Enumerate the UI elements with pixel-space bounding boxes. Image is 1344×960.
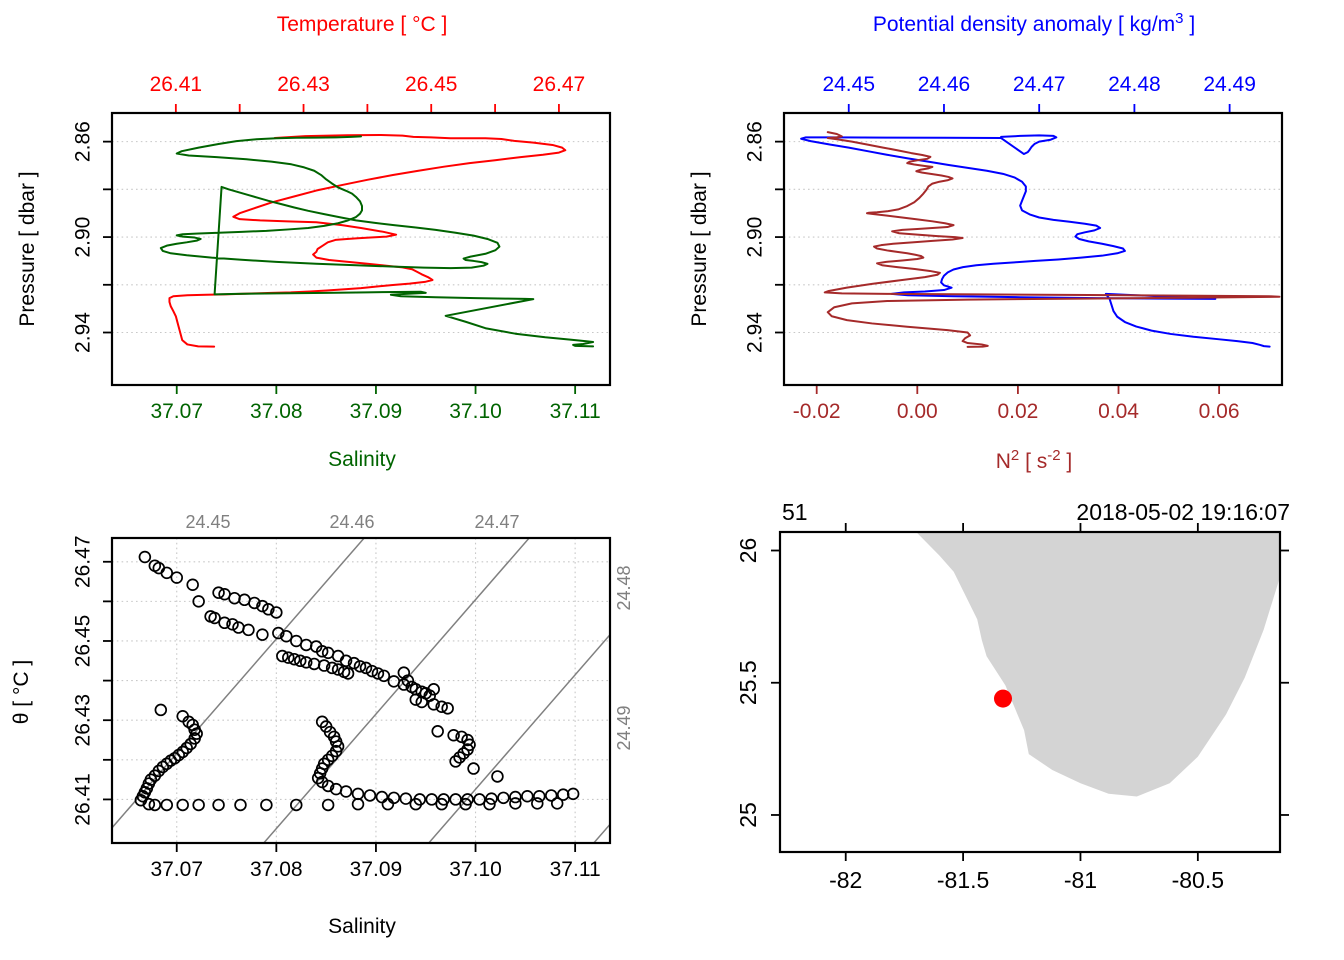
density-plot-box: [784, 113, 1282, 385]
tick-label: 0.04: [1098, 400, 1139, 423]
tick-label: 2.86: [744, 121, 767, 162]
map-left-ticks: 2525.526: [735, 538, 780, 828]
ts-point: [382, 799, 393, 810]
tick-label: 37.09: [350, 400, 403, 423]
ts-point: [400, 793, 411, 804]
ts-point: [333, 651, 344, 662]
tick-label: 0.02: [997, 400, 1038, 423]
ts-point: [353, 788, 364, 799]
ts-point: [468, 763, 479, 774]
ts-point: [193, 800, 204, 811]
ts-point: [161, 800, 172, 811]
density-svg: Potential density anomaly [ kg/m3 ] 24.4…: [672, 0, 1344, 480]
tick-label: 37.10: [449, 858, 502, 881]
ts-point: [161, 567, 172, 578]
tick-label: -0.02: [793, 400, 841, 423]
isopycnal-label-right: 24.49: [614, 705, 634, 750]
tick-label: 2.90: [72, 217, 95, 258]
ts-point: [522, 791, 533, 802]
isopycnal-label-right: 24.48: [614, 565, 634, 610]
ts-point: [177, 800, 188, 811]
isopycnal-label-top: 24.47: [474, 512, 519, 532]
tick-label: 37.08: [250, 400, 303, 423]
density-top-axis-title-exp: 3: [1175, 10, 1183, 27]
density-series-lines: [801, 132, 1279, 347]
ts-point: [343, 668, 354, 679]
ts-point: [377, 792, 388, 803]
tick-label: 2.86: [72, 121, 95, 162]
profile-top-axis-title: Temperature [ °C ]: [277, 13, 448, 36]
tick-label: 24.45: [822, 73, 875, 96]
tick-label: 37.07: [150, 858, 203, 881]
ts-point: [155, 705, 166, 716]
isopycnal-line: [552, 498, 672, 891]
profile-y-axis-title: Pressure [ dbar ]: [16, 171, 39, 326]
ts-point: [492, 771, 503, 782]
density-bottom-axis-title: N2 [ s-2 ]: [996, 447, 1073, 473]
ts-point: [187, 579, 198, 590]
density-top-axis-title-main: Potential density anomaly [ kg/m: [873, 13, 1175, 36]
profile-series-lines: [161, 135, 593, 347]
ts-point: [353, 799, 364, 810]
tick-label: 24.49: [1203, 73, 1256, 96]
tick-label: 2.90: [744, 217, 767, 258]
ts-x-axis-title: Salinity: [328, 915, 396, 938]
tick-label: 26.45: [72, 615, 95, 668]
ts-point: [552, 798, 563, 809]
tick-label: 25.5: [735, 660, 761, 705]
tick-label: -82: [829, 867, 862, 893]
map-station-marker: [994, 690, 1012, 708]
density-top-axis-title: Potential density anomaly [ kg/m3 ]: [873, 10, 1195, 36]
tick-label: -81.5: [937, 867, 989, 893]
tick-label: 26.43: [72, 694, 95, 747]
ts-isopycnal-labels: 24.4524.4624.4724.4824.49: [185, 512, 634, 751]
ts-point: [257, 629, 268, 640]
ts-point: [323, 800, 334, 811]
isopycnal-label-top: 24.46: [329, 512, 374, 532]
isopycnal-line: [57, 498, 399, 891]
tick-label: 26.41: [72, 773, 95, 826]
density-bottom-ticks: -0.020.000.020.040.06: [793, 385, 1240, 423]
tick-label: 37.09: [350, 858, 403, 881]
panel-ts: 24.4524.4624.4724.4824.49 37.0737.0837.0…: [0, 480, 672, 960]
ts-y-axis-title: θ [ °C ]: [10, 660, 33, 724]
profile-svg: Temperature [ °C ] 26.4126.4326.4526.47 …: [0, 0, 672, 480]
isopycnal-line: [387, 498, 672, 891]
tick-label: 26.41: [150, 73, 203, 96]
tick-label: 26.47: [533, 73, 586, 96]
ts-svg: 24.4524.4624.4724.4824.49 37.0737.0837.0…: [0, 480, 672, 960]
ctd-summary-figure: Temperature [ °C ] 26.4126.4326.4526.47 …: [0, 0, 1344, 960]
ts-point: [341, 786, 352, 797]
profile-bottom-ticks: 37.0737.0837.0937.1037.11: [150, 385, 600, 423]
ts-point: [261, 800, 272, 811]
isopycnal-line: [222, 498, 564, 891]
map-station-label: 51: [782, 499, 808, 525]
ts-point: [432, 726, 443, 737]
panel-profile: Temperature [ °C ] 26.4126.4326.4526.47 …: [0, 0, 672, 480]
density-top-ticks: 24.4524.4624.4724.4824.49: [822, 73, 1255, 113]
ts-point: [532, 798, 543, 809]
map-svg: 51 2018-05-02 19:16:07 -82-81.5-81-80.5 …: [672, 480, 1344, 960]
ts-point: [426, 794, 437, 805]
series-polyline: [825, 132, 1280, 347]
map-right-ticks: [1280, 551, 1289, 815]
ts-point: [229, 593, 240, 604]
tick-label: 26.43: [277, 73, 330, 96]
map-timestamp-label: 2018-05-02 19:16:07: [1076, 499, 1290, 525]
tick-label: 37.11: [550, 858, 601, 881]
tick-label: 37.10: [449, 400, 502, 423]
tick-label: 0.00: [897, 400, 938, 423]
panel-map: 51 2018-05-02 19:16:07 -82-81.5-81-80.5 …: [672, 480, 1344, 960]
tick-label: 24.48: [1108, 73, 1161, 96]
density-y-axis-title: Pressure [ dbar ]: [688, 171, 711, 326]
tick-label: 26.47: [72, 535, 95, 588]
tick-label: 2.94: [744, 312, 767, 353]
ts-point: [365, 790, 376, 801]
ts-point: [388, 792, 399, 803]
ts-point: [213, 800, 224, 811]
tick-label: 2.94: [72, 312, 95, 353]
tick-label: 37.11: [550, 400, 601, 423]
panel-density: Potential density anomaly [ kg/m3 ] 24.4…: [672, 0, 1344, 480]
ts-bottom-ticks: 37.0737.0837.0937.1037.11: [150, 843, 600, 881]
series-polyline: [161, 136, 593, 346]
ts-point: [498, 792, 509, 803]
tick-label: 37.07: [150, 400, 203, 423]
ts-point: [309, 659, 320, 670]
series-polyline: [169, 135, 565, 347]
ts-point: [235, 800, 246, 811]
ts-left-ticks: 26.4126.4326.4526.47: [72, 535, 112, 825]
ts-point: [301, 640, 312, 651]
tick-label: 37.08: [250, 858, 303, 881]
ts-point: [450, 794, 461, 805]
tick-label: -81: [1064, 867, 1097, 893]
ts-point: [534, 791, 545, 802]
density-left-ticks: 2.862.902.94: [744, 121, 784, 353]
ts-point: [474, 794, 485, 805]
ts-point: [139, 552, 150, 563]
tick-label: 25: [735, 802, 761, 828]
ts-point: [243, 625, 254, 636]
tick-label: 0.06: [1199, 400, 1240, 423]
tick-label: 26.45: [405, 73, 458, 96]
map-land-polygon: [916, 532, 1280, 797]
profile-bottom-axis-title: Salinity: [328, 448, 396, 471]
profile-left-ticks: 2.862.902.94: [72, 121, 112, 353]
isopycnal-label-top: 24.45: [185, 512, 230, 532]
tick-label: 24.47: [1013, 73, 1066, 96]
series-polyline: [801, 135, 1269, 346]
profile-top-ticks: 26.4126.4326.4526.47: [150, 73, 586, 113]
tick-label: -80.5: [1172, 867, 1224, 893]
tick-label: 24.46: [918, 73, 971, 96]
ts-isopycnal-lines: [57, 498, 672, 891]
tick-label: 26: [735, 538, 761, 564]
map-bottom-ticks: -82-81.5-81-80.5: [829, 852, 1224, 893]
